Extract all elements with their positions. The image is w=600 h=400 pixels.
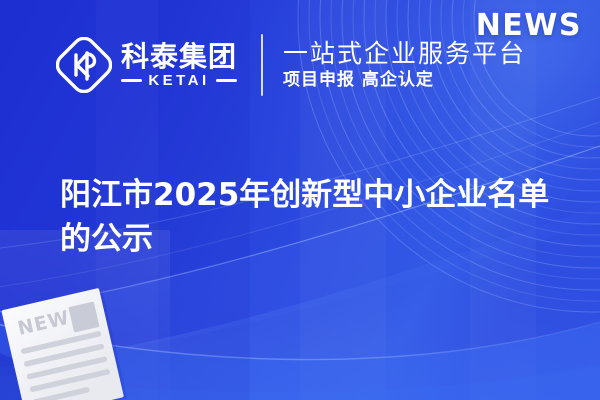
page-title: 阳江市2025年创新型中小企业名单的公示 [60, 173, 570, 261]
wordmark-rule-left [121, 79, 142, 82]
brand-wordmark: 科泰集团 KETAI [121, 42, 237, 87]
slogan-primary: 一站式企业服务平台 [283, 40, 526, 67]
wordmark-rule-right [216, 79, 237, 82]
brand-name-en-row: KETAI [121, 73, 237, 88]
header-vertical-divider [261, 34, 263, 96]
slogan-block: 一站式企业服务平台 项目申报 高企认定 [283, 40, 526, 90]
news-wordmark: NEWS [476, 8, 582, 43]
newspaper-icon: NEWS [0, 278, 144, 400]
slogan-secondary: 项目申报 高企认定 [283, 71, 526, 90]
brand-logo[interactable]: 科泰集团 KETAI [56, 37, 237, 93]
brand-name-en: KETAI [148, 73, 209, 88]
ketai-diamond-monogram-icon [56, 37, 112, 93]
brand-name-cn: 科泰集团 [121, 42, 237, 71]
news-banner: 科泰集团 KETAI 一站式企业服务平台 项目申报 高企认定 NEWS 阳江市2… [0, 0, 600, 400]
